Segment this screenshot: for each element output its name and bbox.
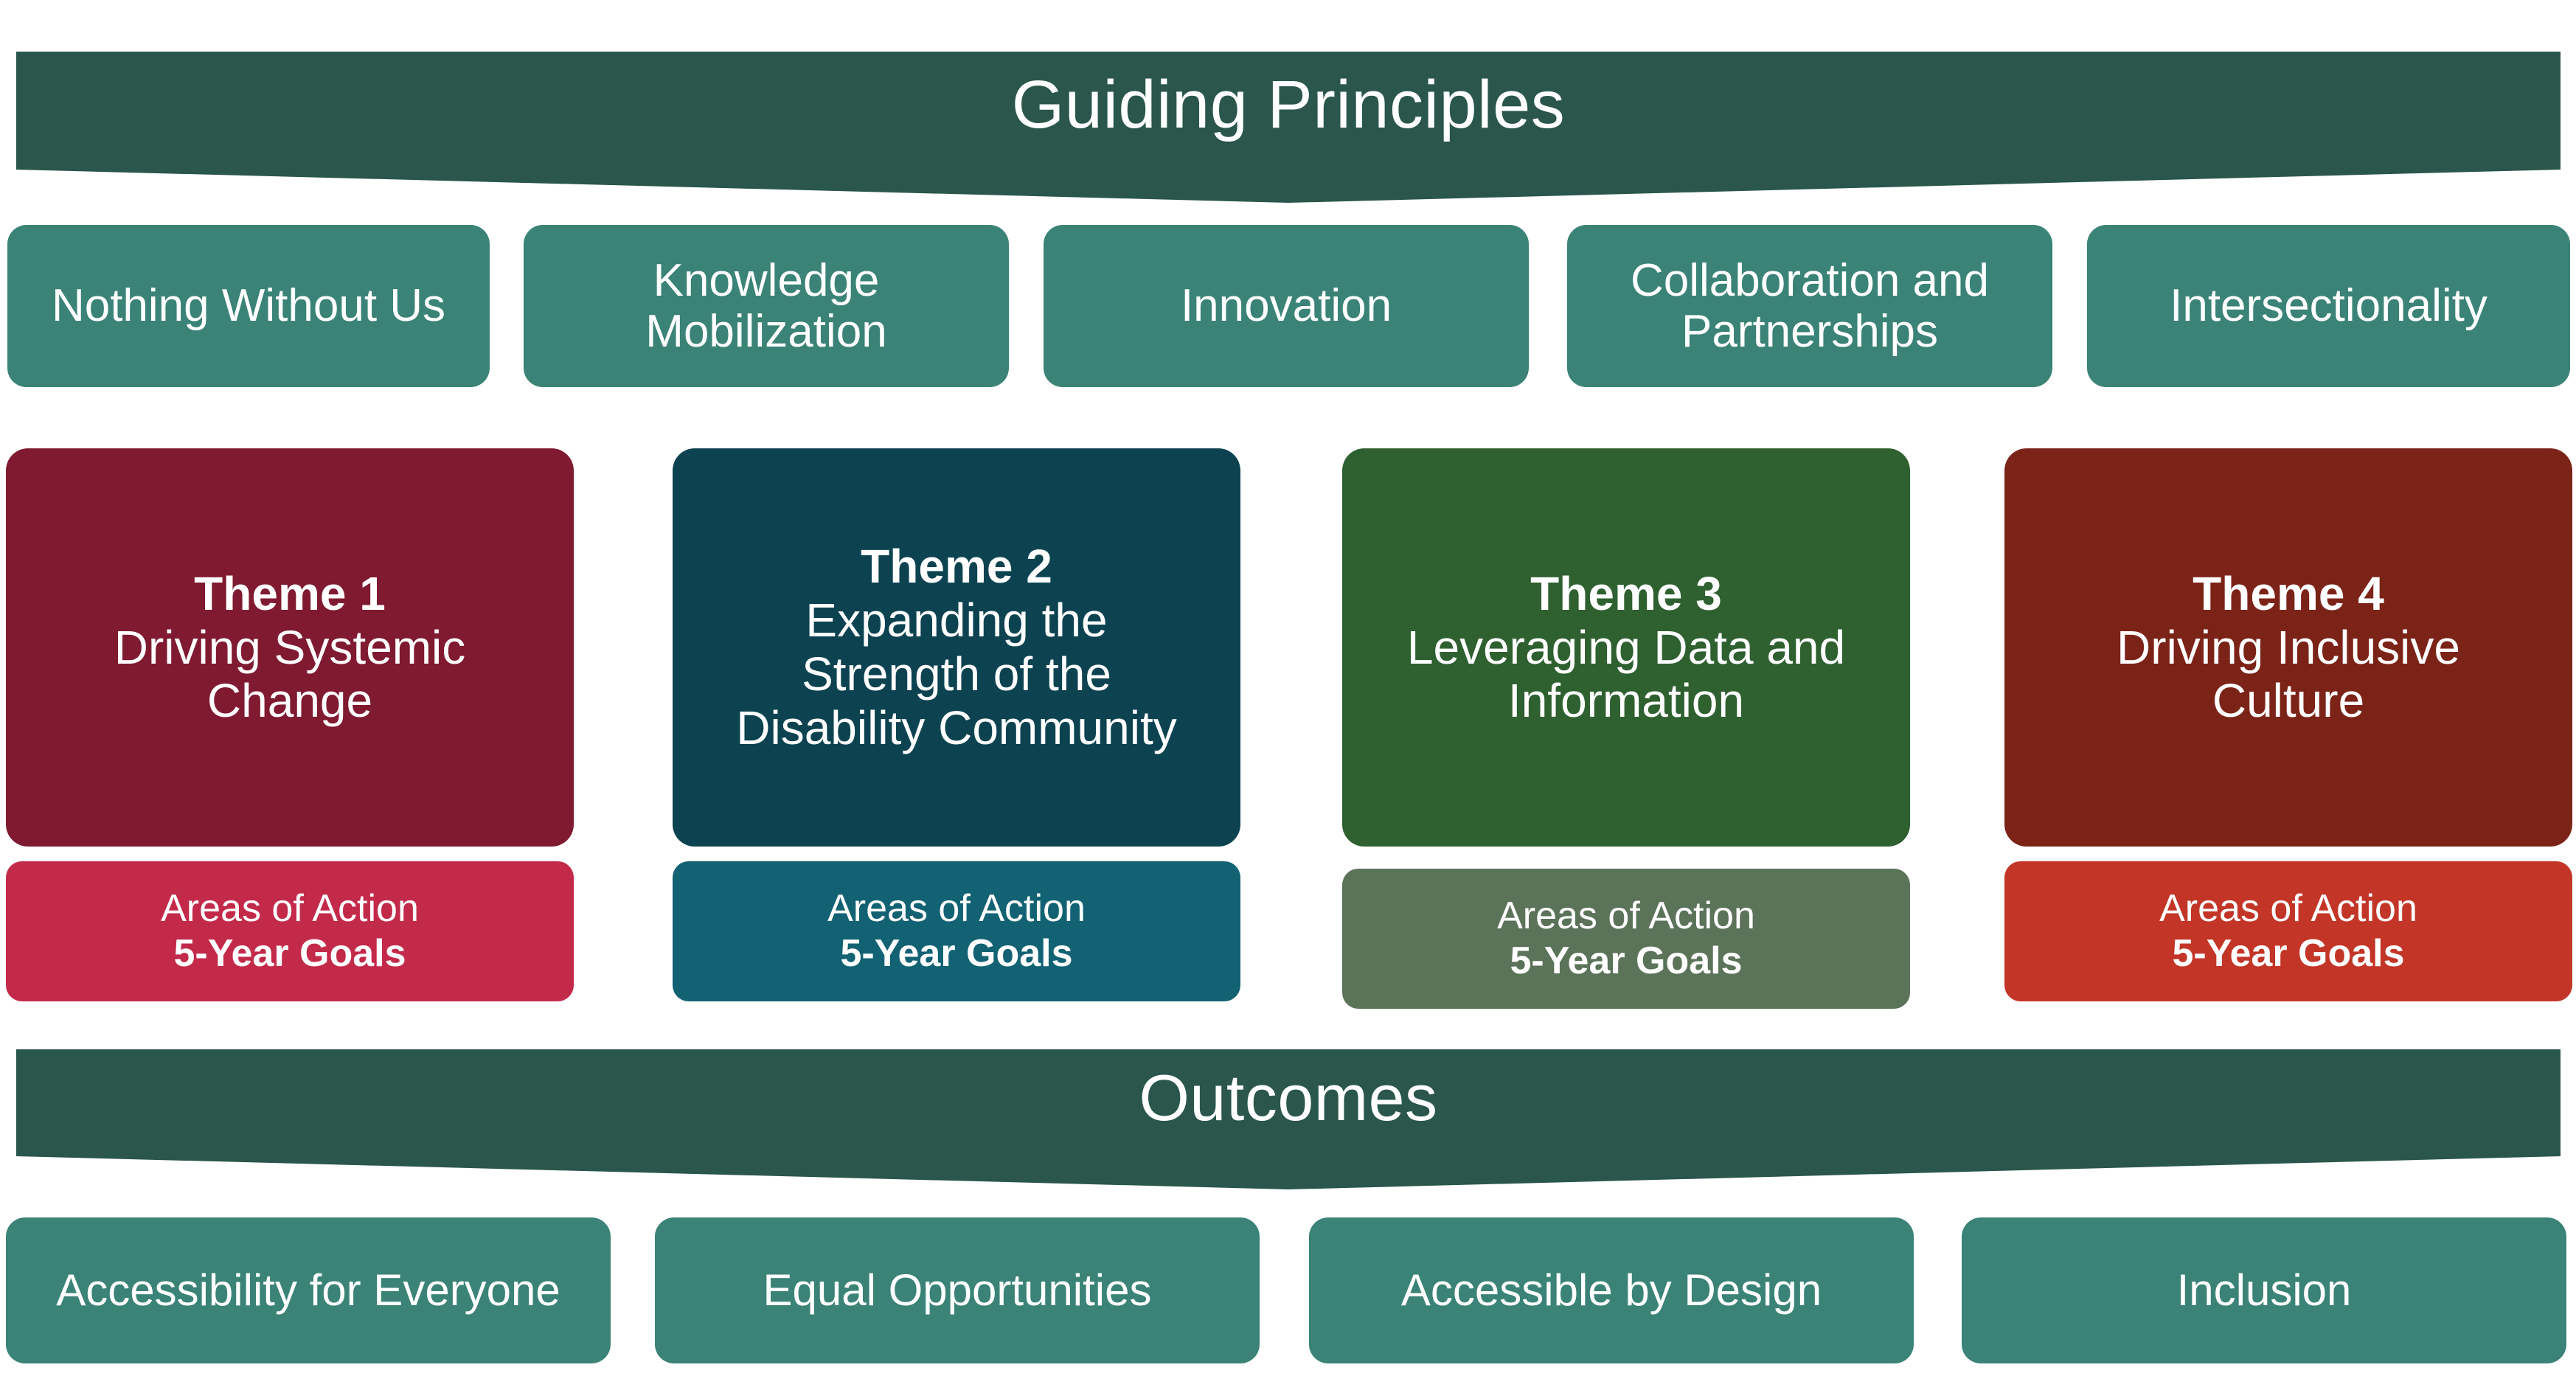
- principle-knowledge-mobilization[interactable]: Knowledge Mobilization: [524, 225, 1009, 387]
- areas-of-action-title: Areas of Action: [16, 886, 563, 931]
- theme-subtitle: Driving Inclusive Culture: [2015, 621, 2562, 729]
- theme-subtitle: Expanding the Strength of the Disability…: [683, 594, 1230, 755]
- outcome-label: Inclusion: [1972, 1265, 2556, 1315]
- outcome-inclusion[interactable]: Inclusion: [1962, 1217, 2566, 1363]
- diagram-canvas: Guiding Principles Nothing Without Us Kn…: [0, 0, 2576, 1390]
- theme-card-4-content: Theme 4 Driving Inclusive Culture: [2015, 567, 2562, 729]
- areas-of-action-title: Areas of Action: [2015, 886, 2562, 931]
- guiding-principles-title: Guiding Principles: [1012, 71, 1565, 139]
- outcome-label: Accessible by Design: [1319, 1265, 1903, 1315]
- outcome-label: Accessibility for Everyone: [16, 1265, 600, 1315]
- principle-nothing-without-us[interactable]: Nothing Without Us: [7, 225, 490, 387]
- outcome-accessibility-for-everyone[interactable]: Accessibility for Everyone: [6, 1217, 611, 1363]
- theme-card-4[interactable]: Theme 4 Driving Inclusive Culture: [2004, 448, 2572, 847]
- principle-label: Collaboration and Partnerships: [1577, 255, 2042, 358]
- theme-card-3-content: Theme 3 Leveraging Data and Information: [1353, 567, 1900, 729]
- principle-intersectionality[interactable]: Intersectionality: [2087, 225, 2570, 387]
- areas-of-action-3-content: Areas of Action 5-Year Goals: [1353, 894, 1900, 984]
- areas-of-action-4[interactable]: Areas of Action 5-Year Goals: [2004, 861, 2572, 1001]
- outcome-label: Equal Opportunities: [665, 1265, 1249, 1315]
- theme-card-3[interactable]: Theme 3 Leveraging Data and Information: [1342, 448, 1910, 847]
- areas-of-action-title: Areas of Action: [1353, 894, 1900, 939]
- areas-of-action-4-content: Areas of Action 5-Year Goals: [2015, 886, 2562, 977]
- principle-innovation[interactable]: Innovation: [1044, 225, 1529, 387]
- five-year-goals-label: 5-Year Goals: [683, 931, 1230, 976]
- theme-heading: Theme 2: [683, 540, 1230, 594]
- theme-card-1-content: Theme 1 Driving Systemic Change: [16, 567, 563, 729]
- areas-of-action-1-content: Areas of Action 5-Year Goals: [16, 886, 563, 977]
- theme-heading: Theme 3: [1353, 567, 1900, 621]
- theme-card-1[interactable]: Theme 1 Driving Systemic Change: [6, 448, 574, 847]
- areas-of-action-1[interactable]: Areas of Action 5-Year Goals: [6, 861, 574, 1001]
- outcome-equal-opportunities[interactable]: Equal Opportunities: [655, 1217, 1260, 1363]
- outcomes-banner: Outcomes: [16, 1049, 2561, 1189]
- theme-card-2-content: Theme 2 Expanding the Strength of the Di…: [683, 540, 1230, 755]
- principle-label: Nothing Without Us: [18, 280, 479, 331]
- areas-of-action-2[interactable]: Areas of Action 5-Year Goals: [673, 861, 1240, 1001]
- areas-of-action-title: Areas of Action: [683, 886, 1230, 931]
- theme-heading: Theme 1: [16, 567, 563, 621]
- areas-of-action-2-content: Areas of Action 5-Year Goals: [683, 886, 1230, 977]
- theme-subtitle: Driving Systemic Change: [16, 621, 563, 729]
- five-year-goals-label: 5-Year Goals: [16, 931, 563, 976]
- areas-of-action-3[interactable]: Areas of Action 5-Year Goals: [1342, 869, 1910, 1009]
- principle-label: Intersectionality: [2097, 280, 2560, 331]
- five-year-goals-label: 5-Year Goals: [1353, 939, 1900, 984]
- principle-label: Innovation: [1054, 280, 1518, 331]
- principle-label: Knowledge Mobilization: [534, 255, 999, 358]
- principle-collaboration-partnerships[interactable]: Collaboration and Partnerships: [1567, 225, 2052, 387]
- theme-subtitle: Leveraging Data and Information: [1353, 621, 1900, 729]
- outcomes-title: Outcomes: [1139, 1066, 1437, 1130]
- theme-heading: Theme 4: [2015, 567, 2562, 621]
- five-year-goals-label: 5-Year Goals: [2015, 931, 2562, 976]
- guiding-principles-banner: Guiding Principles: [16, 52, 2561, 203]
- theme-card-2[interactable]: Theme 2 Expanding the Strength of the Di…: [673, 448, 1240, 847]
- outcome-accessible-by-design[interactable]: Accessible by Design: [1309, 1217, 1914, 1363]
